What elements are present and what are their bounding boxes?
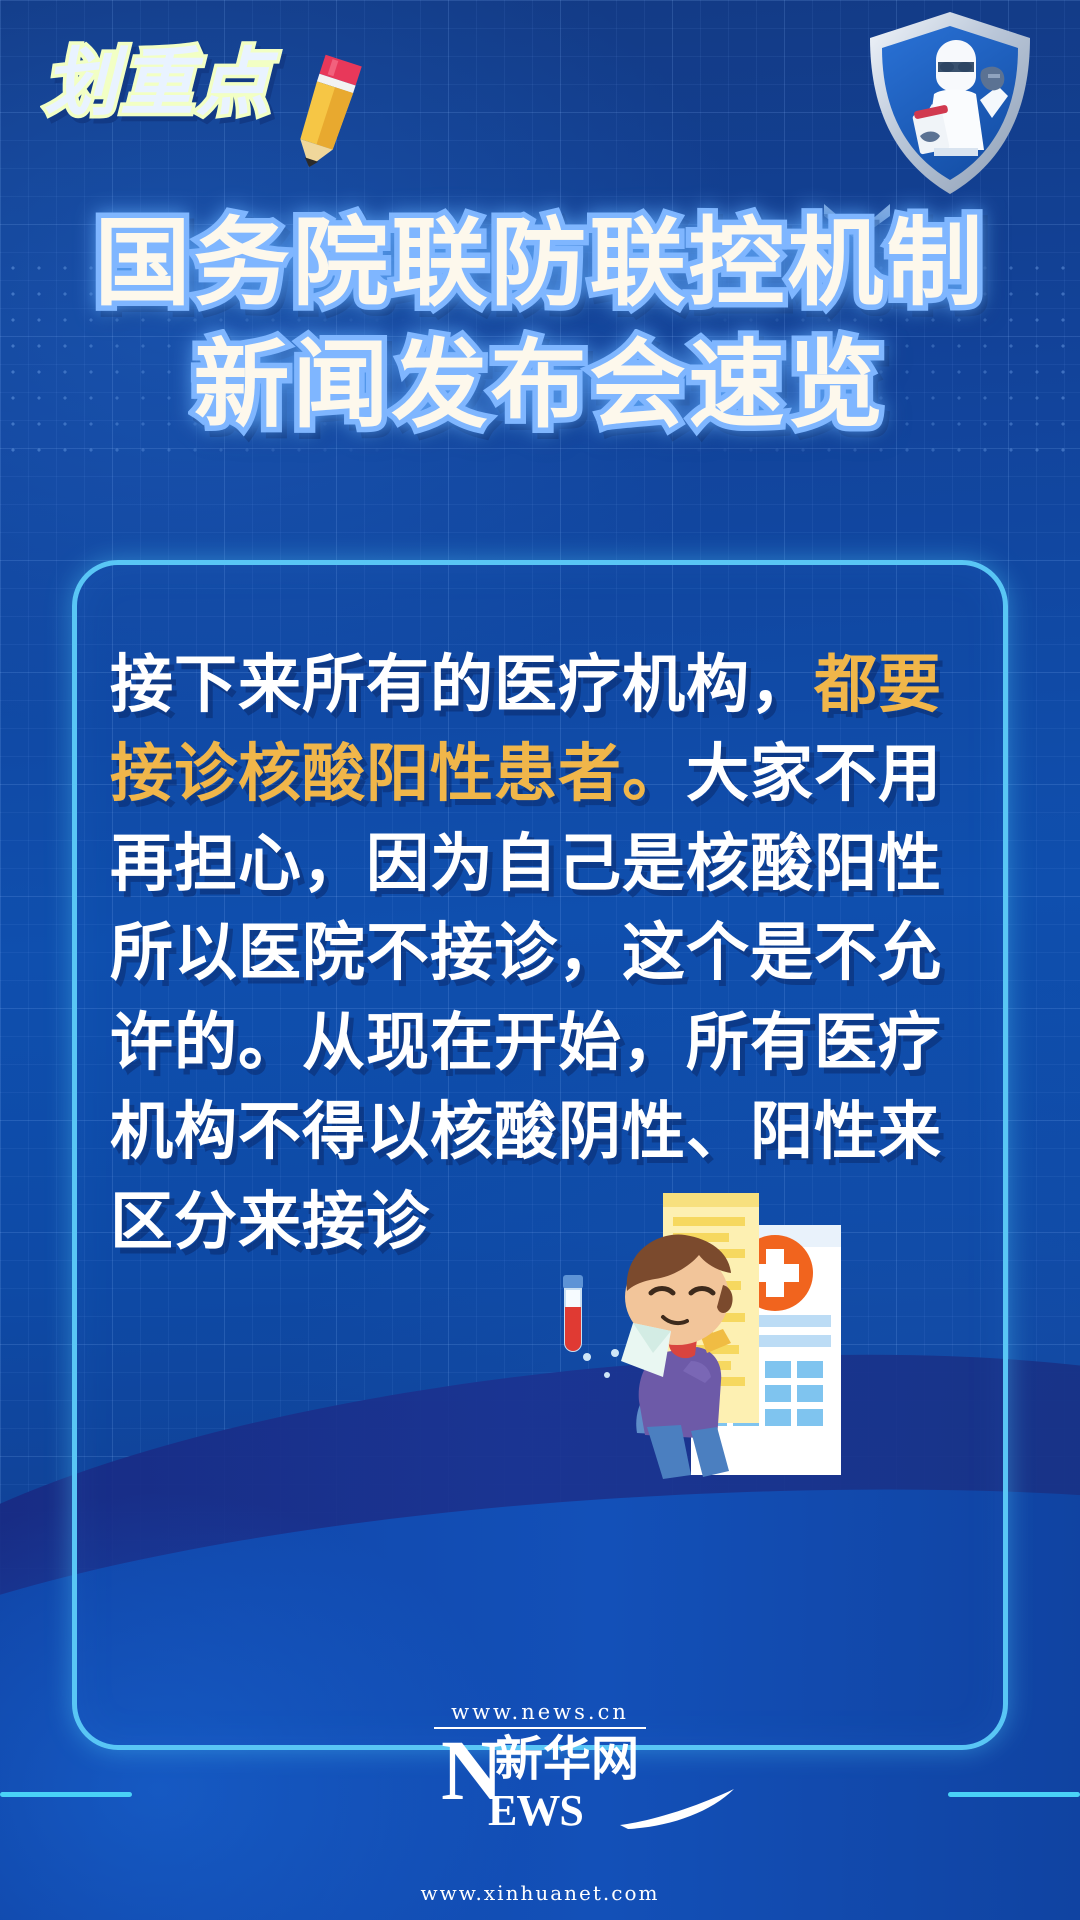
shield-medical-worker-icon [862,8,1038,198]
quote-segment-plain-1: 接下来所有的医疗机构， [110,648,814,721]
footer-logo: www.news.cn N 新华网 EWS www.xinhuanet.com [0,1700,1080,1905]
page-title: 国务院联防联控机制 新闻发布会速览 [0,212,1080,437]
sneezing-boy-icon [604,1235,733,1479]
page-title-line-1: 国务院联防联控机制 [0,212,1080,316]
highlight-badge: 划重点 [44,46,374,166]
xinhua-logo-cn: 新华网 [495,1735,639,1783]
footer-url-bottom: www.xinhuanet.com [0,1881,1080,1905]
poster-root: 划重点 [0,0,1080,1920]
illustration-group [455,1165,845,1495]
xinhua-logo-news: EWS [488,1785,583,1836]
xinhua-swoosh-icon [618,1787,736,1829]
page-title-line-2: 新闻发布会速览 [0,334,1080,438]
footer-url-top: www.news.cn [0,1700,1080,1724]
test-tube-icon [563,1275,591,1361]
